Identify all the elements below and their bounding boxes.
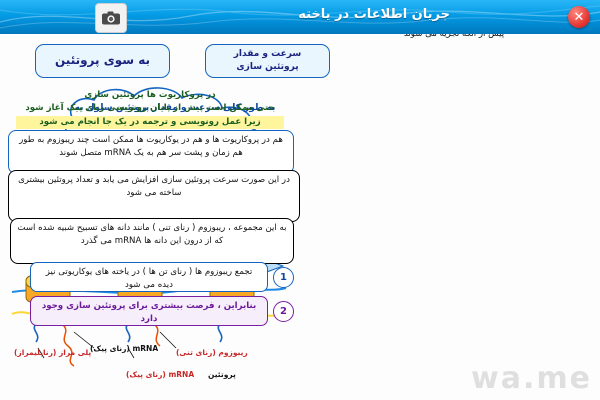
diagram-label-mrna: mRNA (رنای پیک) (90, 344, 158, 353)
diagram-label-ribosome: ریبوزوم (رنای تنی) (176, 348, 248, 357)
diagram-label-mrna-2: mRNA (رنای پیک) (126, 370, 194, 379)
text-block-3: در این صورت سرعت پروتئین سازی افزایش می … (8, 170, 300, 222)
text-block-2: هم در پروکاریوت ها و هم در یوکاریوت ها م… (8, 130, 294, 174)
protein-box-label: به سوی پروتئین (55, 52, 150, 69)
text-block-1: در پروکاریوت ها پروتئین سازی حتی ممکن اس… (10, 86, 290, 134)
number-badge-2: 2 (273, 301, 294, 322)
diagram-label-polymerase: پلی مراز (رناپلیمراز) (14, 348, 91, 357)
close-icon[interactable]: ✕ (568, 6, 590, 28)
rate-box-label: سرعت و مقدار پروتئین سازی (234, 48, 302, 74)
text-block-4-text: به این مجموعه ، ریبوزوم ( رنای تنی ) مان… (17, 223, 286, 246)
numbered-item-2-text: بنابراین ، فرصت بیشتری برای پروتئین سازی… (30, 296, 268, 326)
text-block-1-line1: در پروکاریوت ها پروتئین سازی (16, 89, 284, 102)
camera-glyph (101, 10, 121, 26)
page-title: جریان اطلاعات در یاخته (298, 7, 450, 22)
slide-root: جریان اطلاعات در یاخته ✕ سرعت و مقدار پر… (0, 0, 600, 400)
number-badge-1: 1 (273, 267, 294, 288)
watermark: wa.me (471, 361, 592, 396)
text-block-2-text: هم در پروکاریوت ها و هم در یوکاریوت ها م… (19, 135, 283, 158)
text-block-1-line2: حتی ممکن است پیش از پایان رونویسی رنای پ… (16, 102, 284, 115)
numbered-item-2: 2 بنابراین ، فرصت بیشتری برای پروتئین سا… (30, 296, 294, 326)
title-bar: جریان اطلاعات در یاخته ✕ (0, 0, 600, 34)
text-block-3-text: در این صورت سرعت پروتئین سازی افزایش می … (18, 175, 290, 198)
rate-box: سرعت و مقدار پروتئین سازی (205, 44, 330, 78)
numbered-item-1-text: تجمع ریبوزوم ها ( رنای تن ها ) در یاخته … (30, 262, 268, 292)
numbered-item-1: 1 تجمع ریبوزوم ها ( رنای تن ها ) در یاخت… (30, 262, 294, 292)
text-block-1-line3: زیرا عمل رونویسی و ترجمه در یک جا انجام … (16, 116, 284, 129)
diagram-label-protein: پروتئین (208, 370, 236, 379)
camera-icon[interactable] (95, 3, 127, 33)
close-glyph: ✕ (574, 11, 585, 24)
text-block-4: به این مجموعه ، ریبوزوم ( رنای تنی ) مان… (10, 218, 294, 264)
protein-box: به سوی پروتئین (35, 44, 170, 78)
